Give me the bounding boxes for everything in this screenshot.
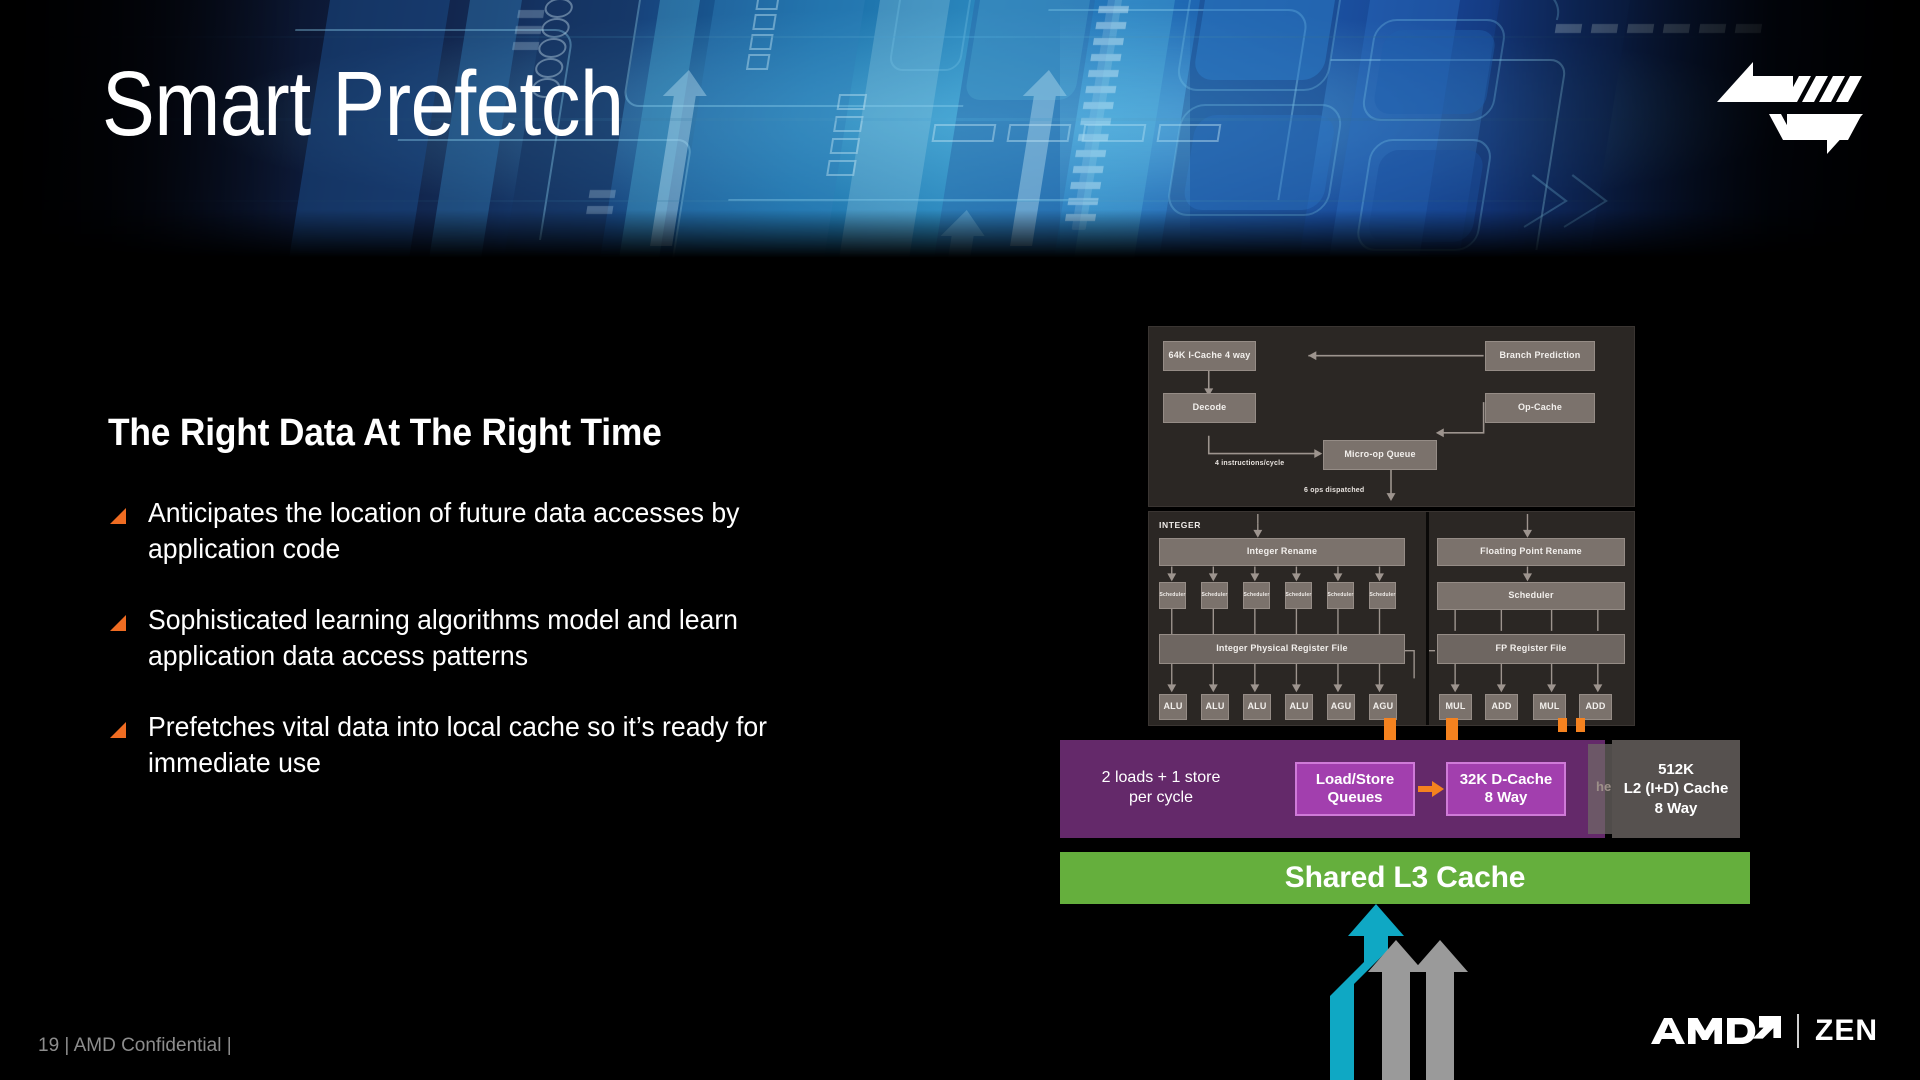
subheading: The Right Data At The Right Time [108,412,815,455]
block-branch-prediction: Branch Prediction [1485,341,1595,371]
block-load-store-queues: Load/Store Queues [1295,762,1415,816]
l3-cache-label: Shared L3 Cache [1285,861,1525,895]
block-icache: 64K I-Cache 4 way [1163,341,1256,371]
label-integer-section: INTEGER [1159,520,1201,530]
lsq-line2: Queues [1316,789,1394,807]
zen-wordmark: ZEN [1815,1014,1878,1048]
block-integer-scheduler: Scheduler [1243,582,1270,609]
block-l3-cache: Shared L3 Cache [1060,852,1750,904]
bullet-list: Anticipates the location of future data … [108,495,868,781]
diagram-execution-section: INTEGER [1148,511,1635,726]
load-store-rate-line2: per cycle [1086,788,1236,808]
content-column: The Right Data At The Right Time Anticip… [108,412,868,815]
block-add: ADD [1485,694,1518,720]
diagram-frontend-section: 64K I-Cache 4 way Branch Prediction Deco… [1148,326,1635,507]
label-dispatch-rate: 6 ops dispatched [1304,487,1364,494]
footer-confidential-note: 19 | AMD Confidential | [38,1035,232,1057]
block-integer-scheduler: Scheduler [1201,582,1228,609]
block-agu: AGU [1369,694,1397,720]
header-banner: Smart Prefetch [0,0,1920,262]
amd-logo-icon [1649,1014,1781,1048]
block-fp-register-file: FP Register File [1437,634,1625,664]
diagram-floating-point-section: Floating Point Rename Scheduler FP Regis… [1429,512,1634,725]
block-decode: Decode [1163,393,1256,423]
bullet-text: Anticipates the location of future data … [148,495,813,568]
bullet-text: Sophisticated learning algorithms model … [148,602,813,675]
brand-divider [1797,1014,1799,1048]
label-decode-rate: 4 instructions/cycle [1215,460,1284,467]
load-store-rate-line1: 2 loads + 1 store [1086,768,1236,788]
block-fp-rename: Floating Point Rename [1437,538,1625,566]
dcache-line1: 32K D-Cache [1460,771,1553,789]
dcache-line2: 8 Way [1460,789,1553,807]
block-agu: AGU [1327,694,1355,720]
block-alu: ALU [1285,694,1313,720]
list-item: Prefetches vital data into local cache s… [108,709,868,782]
l2-line3: 8 Way [1624,799,1729,818]
block-add: ADD [1579,694,1612,720]
block-integer-scheduler: Scheduler [1285,582,1312,609]
block-alu: ALU [1201,694,1229,720]
diagram-integer-section: INTEGER [1149,512,1429,725]
block-integer-register-file: Integer Physical Register File [1159,634,1405,664]
orange-triangle-bullet-icon [108,720,128,740]
block-integer-rename: Integer Rename [1159,538,1405,566]
list-item: Sophisticated learning algorithms model … [108,602,868,675]
block-fp-scheduler: Scheduler [1437,582,1625,610]
orange-triangle-bullet-icon [108,613,128,633]
block-mul: MUL [1439,694,1472,720]
load-store-band: 2 loads + 1 store per cycle Load/Store Q… [1060,740,1605,838]
block-integer-scheduler: Scheduler [1327,582,1354,609]
block-mul: MUL [1533,694,1566,720]
block-integer-scheduler: Scheduler [1369,582,1396,609]
list-item: Anticipates the location of future data … [108,495,868,568]
zen-core-block-diagram: 64K I-Cache 4 way Branch Prediction Deco… [1148,326,1635,726]
l2-line1: 512K [1624,760,1729,779]
banner-bottom-fade [0,210,1920,262]
l2-occluded-fragment: he [1596,779,1611,794]
load-store-rate-note: 2 loads + 1 store per cycle [1086,768,1236,808]
block-alu: ALU [1243,694,1271,720]
zen-arrows-logo-icon [1715,52,1865,170]
block-op-cache: Op-Cache [1485,393,1595,423]
lsq-to-dcache-arrow-icon [1418,781,1444,797]
bandwidth-arrows-icon [1320,900,1520,1080]
block-alu: ALU [1159,694,1187,720]
slide-root: Smart Prefetch [0,0,1920,1080]
block-l2-cache: 512K L2 (I+D) Cache 8 Way [1612,740,1740,838]
lsq-line1: Load/Store [1316,771,1394,789]
block-d-cache: 32K D-Cache 8 Way [1446,762,1566,816]
block-micro-op-queue: Micro-op Queue [1323,440,1437,470]
page-title: Smart Prefetch [102,58,624,150]
block-integer-scheduler: Scheduler [1159,582,1186,609]
orange-triangle-bullet-icon [108,506,128,526]
brand-lockup: ZEN [1649,1010,1878,1052]
l2-line2: L2 (I+D) Cache [1624,779,1729,798]
bullet-text: Prefetches vital data into local cache s… [148,709,813,782]
